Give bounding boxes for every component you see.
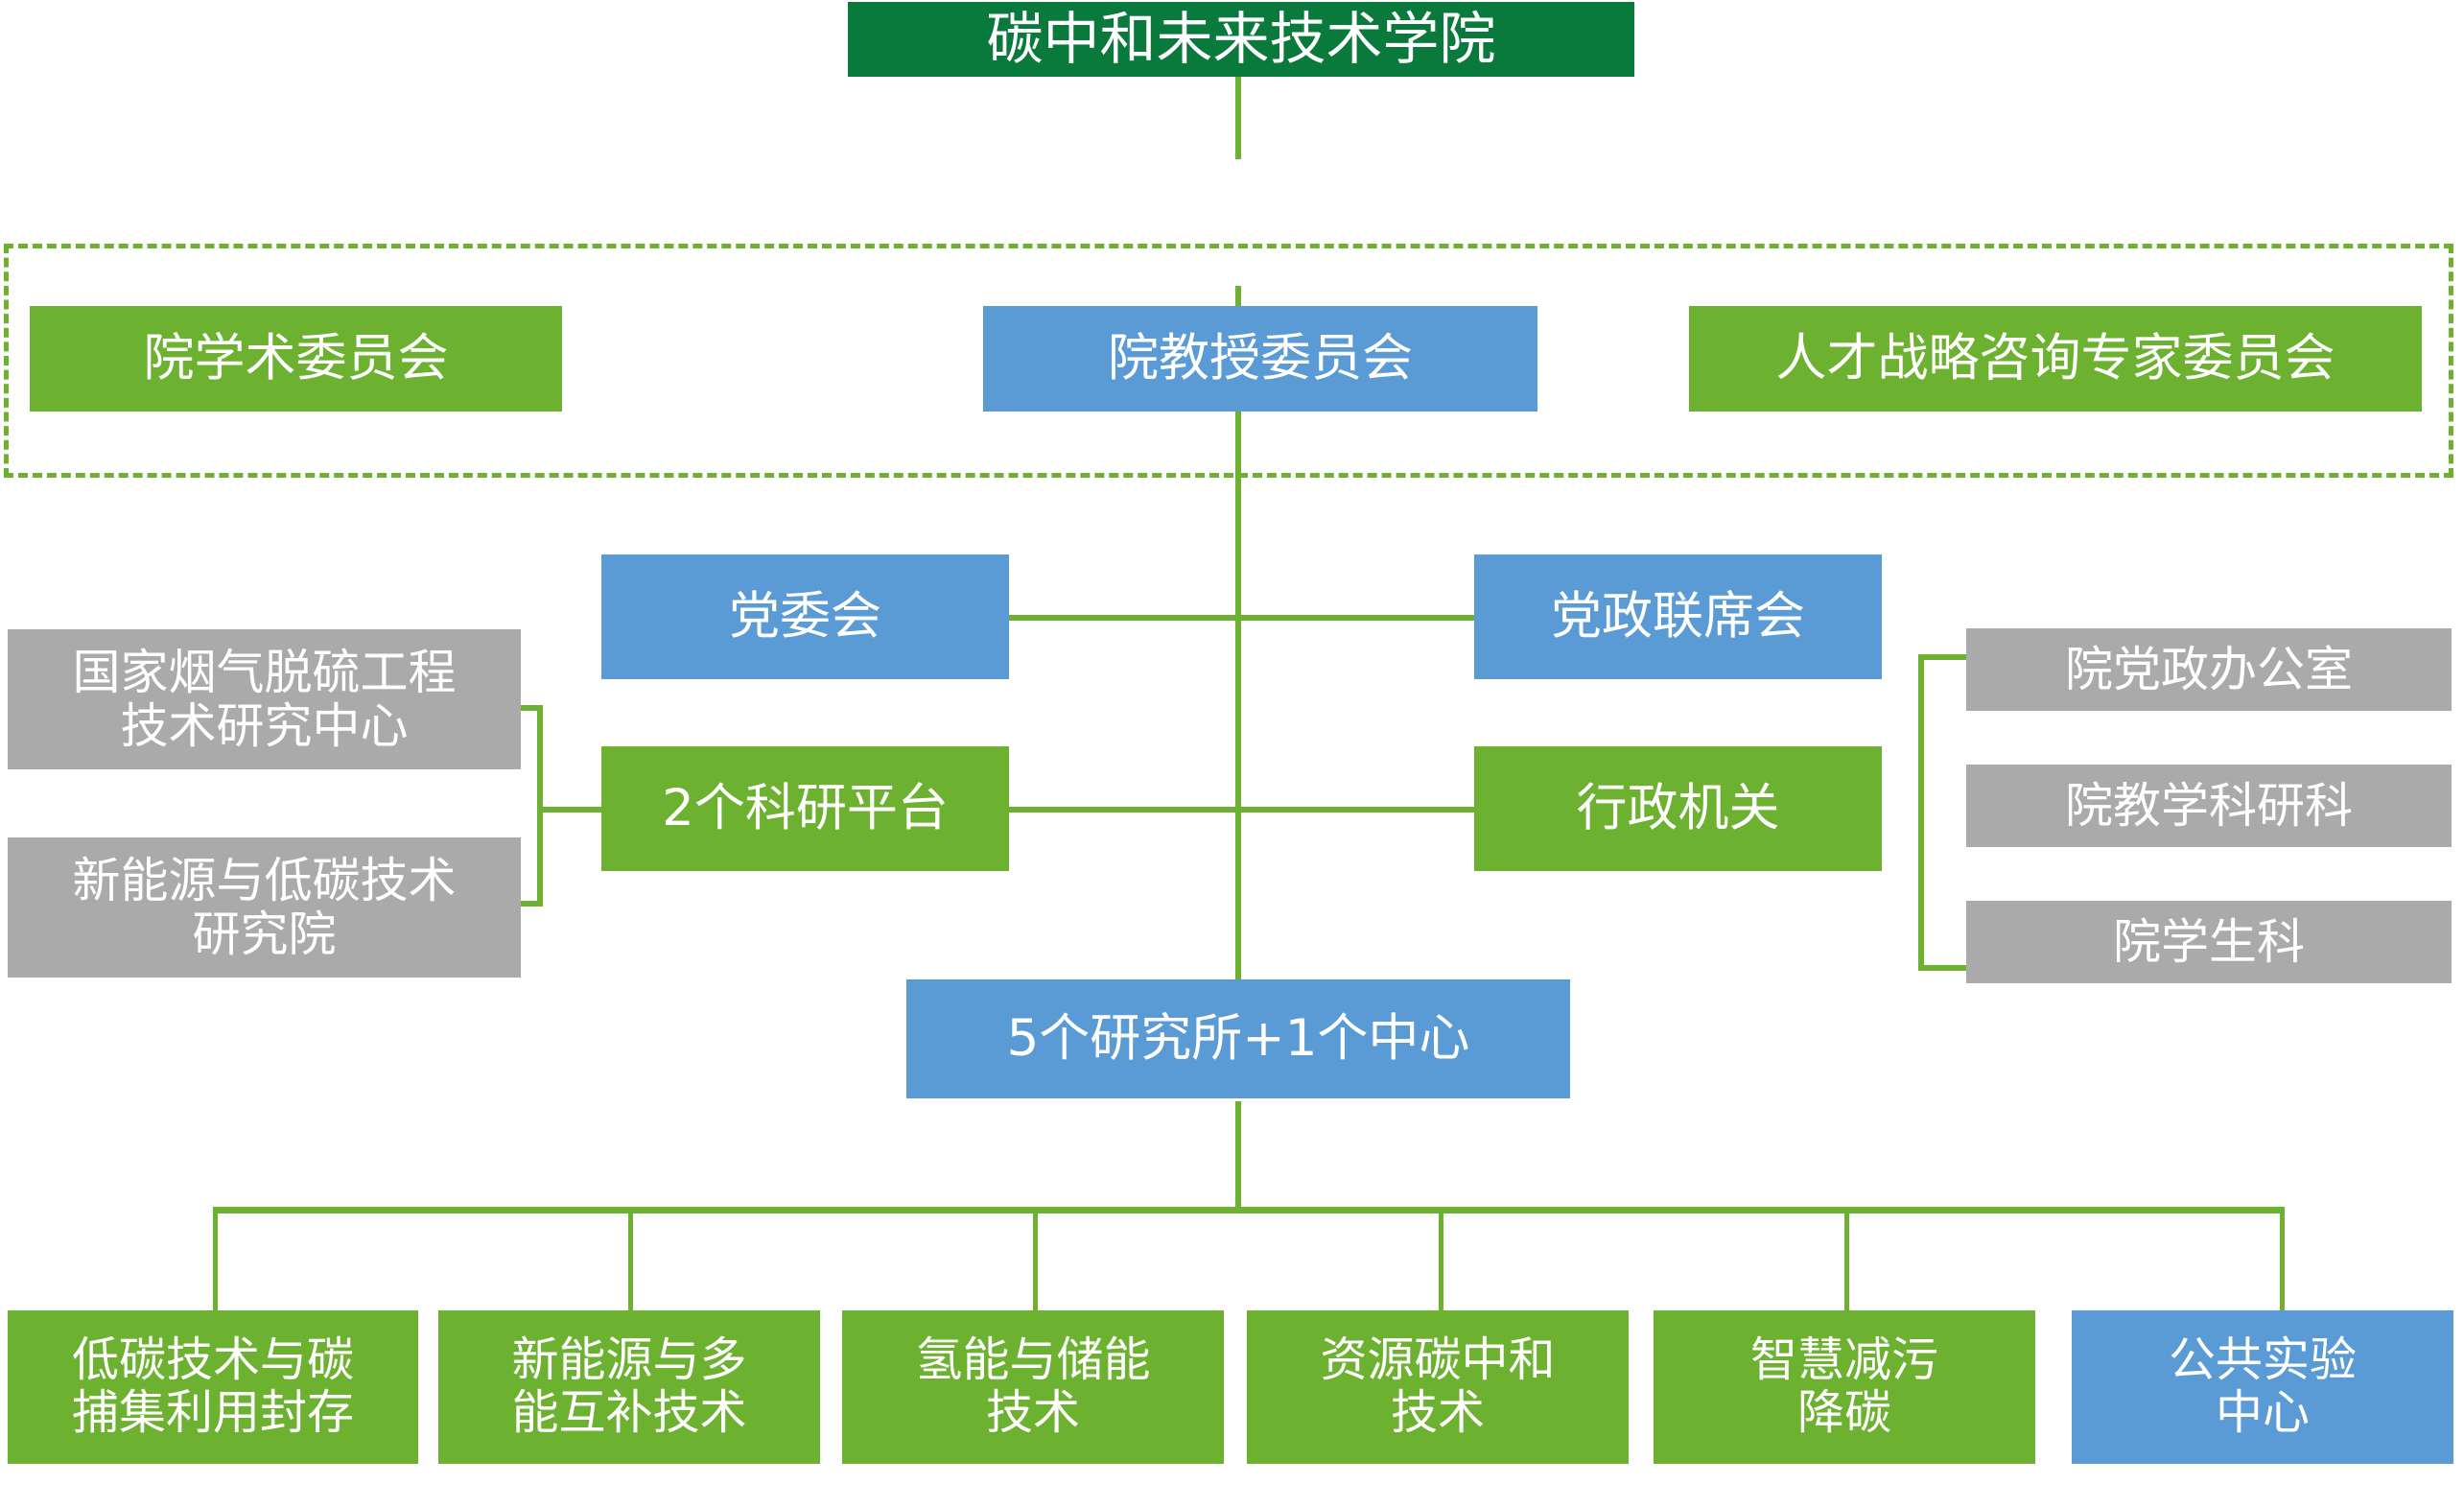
connector-root-to-committees <box>1235 73 1241 159</box>
node-admin-student-affairs[interactable]: 院学生科 <box>1966 901 2452 983</box>
org-chart-diagram: 碳中和未来技术学院 院学术委员会 院教授委员会 人才战略咨询专家委员会 党委会 … <box>0 0 2464 1508</box>
node-platform-new-energy-institute[interactable]: 新能源与低碳技术 研究院 <box>8 837 521 978</box>
node-academic-committee[interactable]: 院学术委员会 <box>30 306 562 412</box>
node-party-committee[interactable]: 党委会 <box>601 554 1009 679</box>
node-institute-low-carbon-ccus[interactable]: 低碳技术与碳 捕集利用封存 <box>8 1310 418 1464</box>
connector-admin-bracket-top <box>1918 654 1966 660</box>
connector-institutes-bus <box>213 1207 2285 1213</box>
node-institute-resource-carbon-neutral[interactable]: 资源碳中和 技术 <box>1247 1310 1629 1464</box>
node-institute-hydrogen-storage[interactable]: 氢能与储能 技术 <box>842 1310 1224 1464</box>
node-party-gov-joint-meeting[interactable]: 党政联席会 <box>1474 554 1882 679</box>
node-platform-desulfurization-center[interactable]: 国家烟气脱硫工程 技术研究中心 <box>8 629 521 769</box>
node-talent-strategy-committee[interactable]: 人才战略咨询专家委员会 <box>1689 306 2422 412</box>
node-institute-new-energy-multi-complementary[interactable]: 新能源与多 能互补技术 <box>438 1310 820 1464</box>
node-admin-party-gov-office[interactable]: 院党政办公室 <box>1966 628 2452 711</box>
node-center-public-laboratory[interactable]: 公共实验 中心 <box>2072 1310 2453 1464</box>
connector-institute-drop-4 <box>1439 1207 1443 1312</box>
node-root-college[interactable]: 碳中和未来技术学院 <box>848 2 1634 77</box>
node-admin-teaching-research[interactable]: 院教学科研科 <box>1966 765 2452 847</box>
node-administrative-office[interactable]: 行政机关 <box>1474 746 1882 871</box>
connector-institute-drop-6 <box>2280 1207 2285 1312</box>
node-research-platforms[interactable]: 2个科研平台 <box>601 746 1009 871</box>
connector-platform-bracket-vertical <box>537 705 543 907</box>
connector-admin-bracket-bottom <box>1918 965 1966 971</box>
connector-institute-drop-2 <box>628 1207 633 1312</box>
connector-institute-drop-3 <box>1033 1207 1038 1312</box>
node-professors-committee[interactable]: 院教授委员会 <box>983 306 1537 412</box>
node-institutes-and-center[interactable]: 5个研究所+1个中心 <box>906 979 1570 1098</box>
connector-institute-drop-1 <box>213 1207 218 1312</box>
node-institute-smart-pollution-carbon-reduction[interactable]: 智慧减污 降碳 <box>1654 1310 2035 1464</box>
connector-institutes-spine <box>1235 1101 1241 1213</box>
connector-admin-bracket-vertical <box>1918 654 1924 971</box>
connector-institute-drop-5 <box>1844 1207 1849 1312</box>
